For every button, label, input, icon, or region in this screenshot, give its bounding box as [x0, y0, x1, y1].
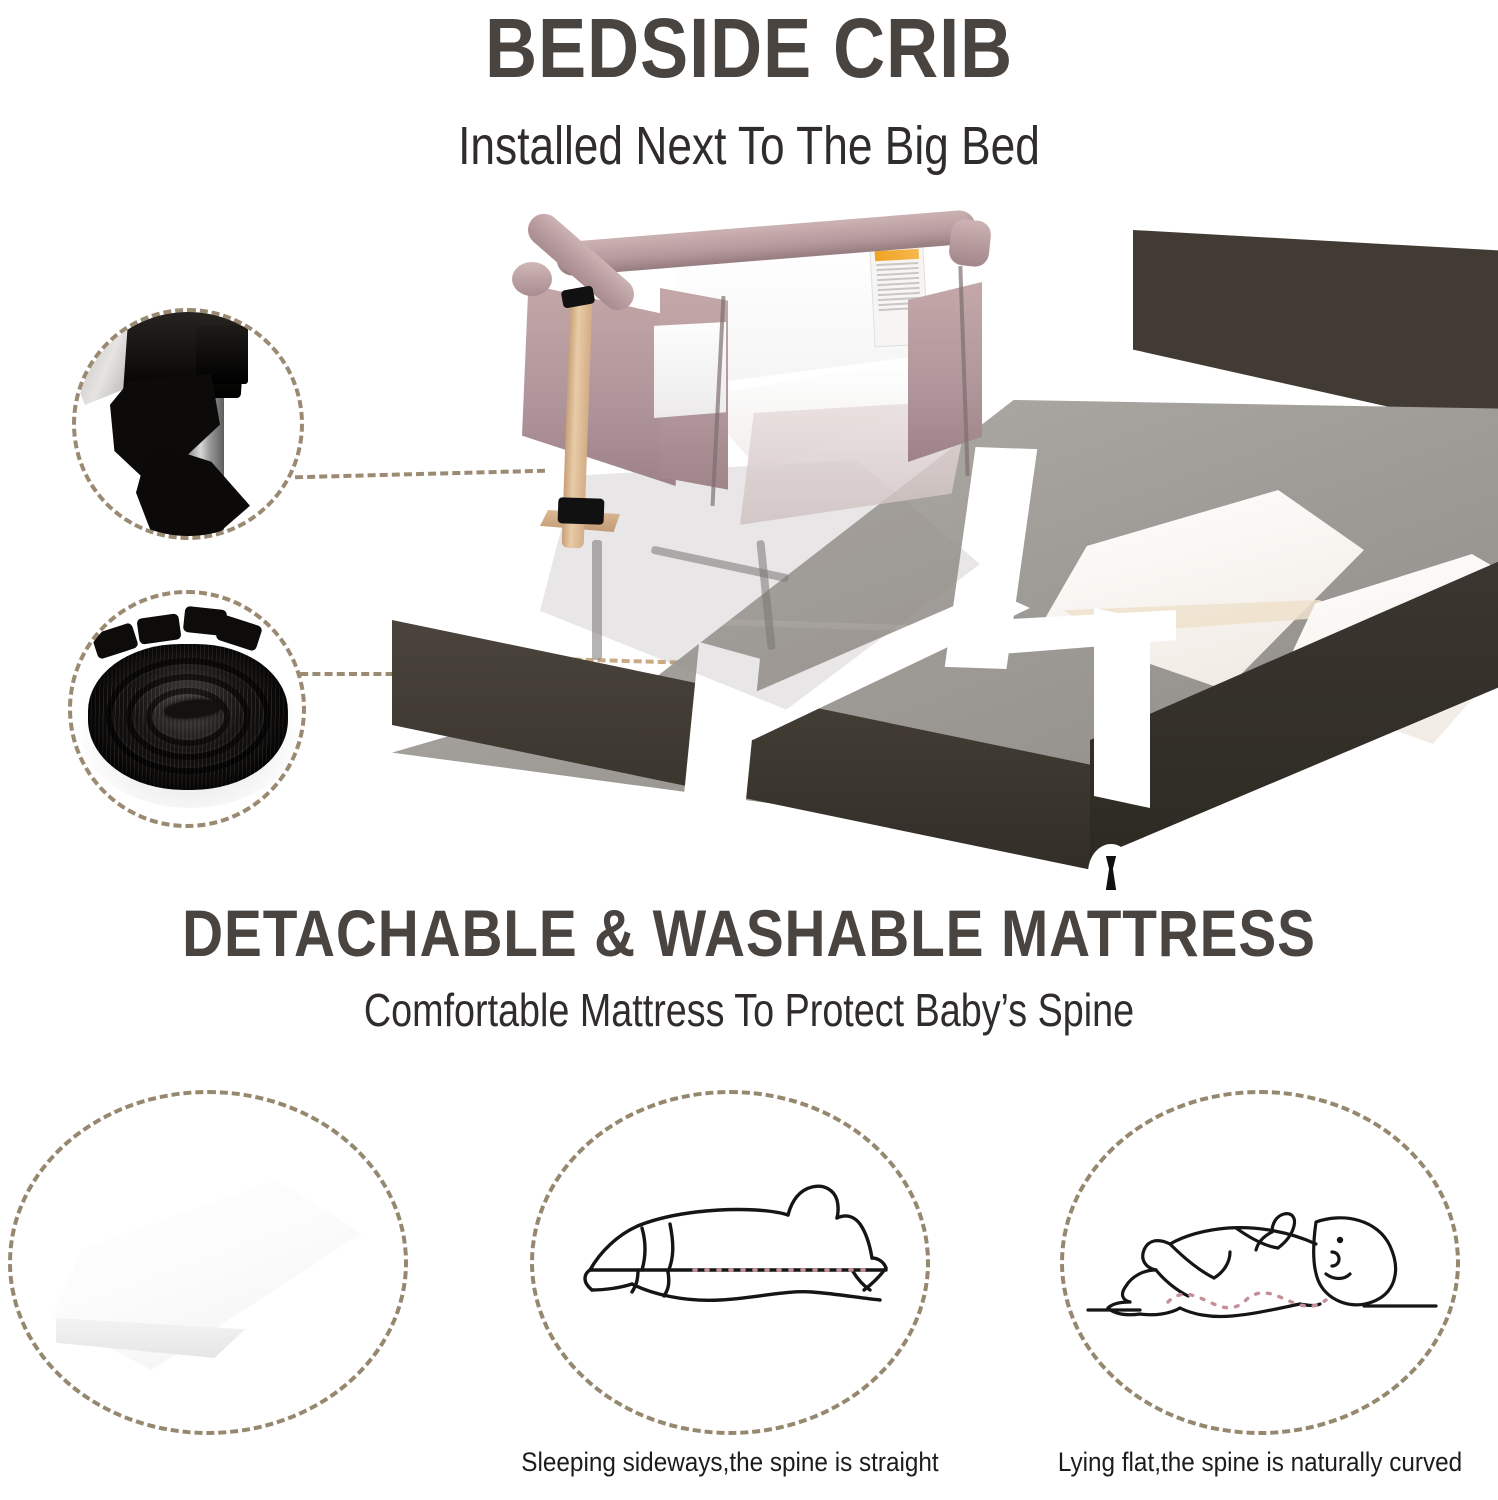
warning-label-line: [877, 272, 919, 276]
buckle-artwork: [76, 312, 300, 536]
figure-circle-lying-flat: [1060, 1090, 1460, 1435]
strap-buckle-marker: [1088, 844, 1134, 902]
inset-buckle-clip: [72, 308, 304, 540]
page-title-detachable-washable-mattress: DETACHABLE & WASHABLE MATTRESS: [105, 895, 1393, 971]
figure-circle-sleeping-sideways: [530, 1090, 930, 1435]
buckle-icon: [1103, 856, 1119, 890]
page-subtitle-installed-next-to-big-bed: Installed Next To The Big Bed: [135, 114, 1363, 178]
bedside-crib-scene: [0, 190, 1498, 880]
baby-sideways-lineart: [534, 1094, 934, 1439]
crib-leg-frame-a: [592, 540, 602, 660]
crib-leg-buckle-clip: [558, 497, 605, 525]
caption-sleeping-sideways: Sleeping sideways,the spine is straight: [460, 1445, 1000, 1479]
mattress-feature-row: Sleeping sideways,the spine is straight …: [0, 1050, 1498, 1500]
strap-artwork: [72, 594, 302, 824]
inset-safety-strap: [68, 590, 306, 828]
warning-label-line: [876, 262, 918, 266]
buckle-lever: [136, 442, 250, 540]
figure-circle-mattress: [8, 1090, 408, 1435]
warning-label-line: [877, 277, 919, 281]
caption-lying-flat: Lying flat,the spine is naturally curved: [990, 1445, 1498, 1479]
crib-right-panel: [908, 282, 982, 462]
page-title-bedside-crib: BEDSIDE CRIB: [105, 2, 1393, 94]
crib-rail-cap-right: [948, 218, 993, 268]
anchor-strap-right-drop: [1094, 608, 1150, 808]
baby-flat-lineart: [1064, 1094, 1464, 1439]
warning-label-line: [878, 292, 920, 296]
warning-label-line: [877, 267, 919, 271]
page-subtitle-comfortable-mattress: Comfortable Mattress To Protect Baby’s S…: [135, 982, 1363, 1038]
bedside-crib-illustration: [500, 210, 1020, 610]
crib-rail-cap-left: [512, 262, 552, 296]
warning-label-line: [877, 282, 919, 286]
warning-label-line: [878, 287, 920, 291]
